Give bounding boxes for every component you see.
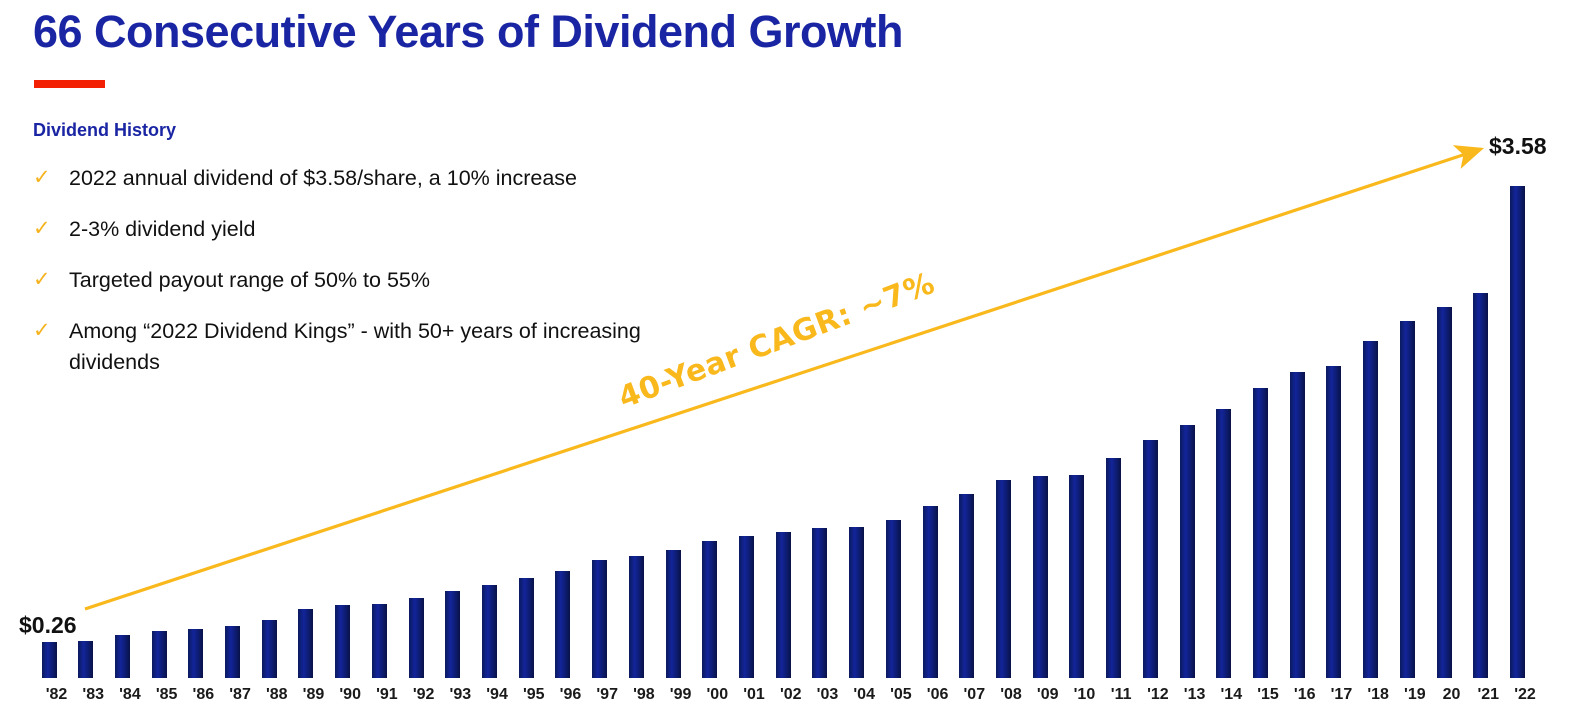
end-value-callout: $3.58	[1489, 133, 1547, 160]
x-axis-tick-label: '82	[40, 686, 74, 704]
x-axis-tick-label: '15	[1251, 686, 1285, 704]
bar	[1290, 372, 1305, 678]
bar	[225, 626, 240, 678]
x-axis-tick-label: '02	[774, 686, 808, 704]
x-axis-tick-label: '10	[1067, 686, 1101, 704]
x-axis-tick-label: '86	[186, 686, 220, 704]
bar	[812, 528, 827, 678]
x-axis-tick-label: '03	[810, 686, 844, 704]
x-axis-tick-label: '83	[76, 686, 110, 704]
x-axis-tick-label: 20	[1435, 686, 1469, 704]
bar	[739, 536, 754, 678]
x-axis-tick-label: '13	[1178, 686, 1212, 704]
x-axis-tick-label: '88	[260, 686, 294, 704]
bar	[886, 520, 901, 678]
bar	[776, 532, 791, 678]
x-axis-tick-label: '07	[957, 686, 991, 704]
x-axis-tick-label: '21	[1471, 686, 1505, 704]
chart-plot-area: '82'83'84'85'86'87'88'89'90'91'92'93'94'…	[0, 0, 1576, 727]
bar	[1180, 425, 1195, 678]
bar	[1143, 440, 1158, 678]
bar	[78, 641, 93, 678]
bar	[629, 556, 644, 678]
x-axis-tick-label: '17	[1324, 686, 1358, 704]
start-value-callout: $0.26	[19, 612, 77, 639]
x-axis-tick-label: '84	[113, 686, 147, 704]
x-axis-tick-label: '85	[150, 686, 184, 704]
bar	[188, 629, 203, 678]
bar	[335, 605, 350, 678]
x-axis-tick-label: '00	[700, 686, 734, 704]
bar	[445, 591, 460, 678]
bar	[1033, 476, 1048, 678]
bar	[1473, 293, 1488, 678]
bar	[1510, 186, 1525, 678]
x-axis-tick-label: '99	[664, 686, 698, 704]
x-axis-tick-label: '90	[333, 686, 367, 704]
x-axis-tick-label: '11	[1104, 686, 1138, 704]
bar	[1437, 307, 1452, 678]
x-axis-tick-label: '91	[370, 686, 404, 704]
x-axis-tick-label: '01	[737, 686, 771, 704]
bar	[959, 494, 974, 678]
bar	[152, 631, 167, 678]
bar	[1326, 366, 1341, 678]
bar	[702, 541, 717, 678]
bar	[592, 560, 607, 678]
x-axis-tick-label: '08	[994, 686, 1028, 704]
bar	[1069, 475, 1084, 678]
x-axis-tick-label: '94	[480, 686, 514, 704]
bar	[666, 550, 681, 678]
slide-root: 66 Consecutive Years of Dividend Growth …	[0, 0, 1576, 727]
bar	[42, 642, 57, 678]
bar	[1216, 409, 1231, 678]
x-axis-tick-label: '92	[407, 686, 441, 704]
x-axis-tick-label: '18	[1361, 686, 1395, 704]
x-axis-tick-label: '14	[1214, 686, 1248, 704]
bar	[996, 480, 1011, 678]
x-axis-tick-label: '09	[1031, 686, 1065, 704]
bar	[1106, 458, 1121, 678]
x-axis-tick-label: '96	[553, 686, 587, 704]
x-axis-tick-label: '05	[884, 686, 918, 704]
bar	[372, 604, 387, 678]
dividend-history-bar-chart: '82'83'84'85'86'87'88'89'90'91'92'93'94'…	[0, 0, 1576, 727]
bar	[298, 609, 313, 678]
x-axis-tick-label: '95	[517, 686, 551, 704]
bar	[482, 585, 497, 678]
x-axis-tick-label: '06	[921, 686, 955, 704]
x-axis-tick-label: '98	[627, 686, 661, 704]
x-axis-tick-label: '93	[443, 686, 477, 704]
x-axis-tick-label: '16	[1288, 686, 1322, 704]
bar	[555, 571, 570, 678]
x-axis-tick-label: '89	[296, 686, 330, 704]
bar	[849, 527, 864, 678]
x-axis-tick-label: '19	[1398, 686, 1432, 704]
bar	[923, 506, 938, 678]
x-axis-tick-label: '12	[1141, 686, 1175, 704]
bar	[1363, 341, 1378, 678]
x-axis-tick-label: '04	[847, 686, 881, 704]
bar	[519, 578, 534, 678]
x-axis-tick-label: '87	[223, 686, 257, 704]
x-axis-tick-label: '22	[1508, 686, 1542, 704]
bar	[1400, 321, 1415, 678]
x-axis-tick-label: '97	[590, 686, 624, 704]
bar	[262, 620, 277, 678]
bar	[409, 598, 424, 678]
bar	[115, 635, 130, 678]
bar	[1253, 388, 1268, 678]
